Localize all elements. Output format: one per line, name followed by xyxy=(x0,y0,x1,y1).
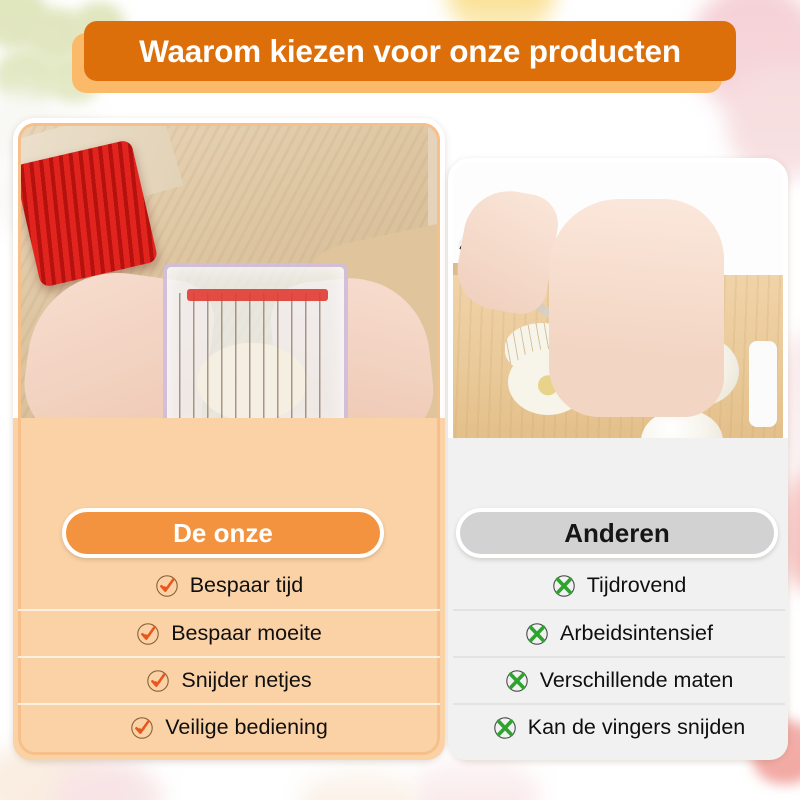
check-circle-icon xyxy=(146,669,170,693)
ours-column-label: De onze xyxy=(173,518,273,549)
x-circle-icon xyxy=(493,716,517,740)
ours-product-photo xyxy=(18,123,440,425)
check-circle-icon xyxy=(155,574,179,598)
check-circle-icon xyxy=(130,716,154,740)
promo-comparison-graphic: Waarom kiezen voor onze producten xyxy=(0,0,800,800)
feature-label: Veilige bediening xyxy=(165,715,328,740)
feature-label: Tijdrovend xyxy=(587,573,687,598)
list-item: Arbeidsintensief xyxy=(453,609,785,656)
header-banner: Waarom kiezen voor onze producten xyxy=(84,21,736,81)
slicer-red-rim xyxy=(187,289,328,301)
others-column-label: Anderen xyxy=(564,518,669,549)
feature-label: Arbeidsintensief xyxy=(560,621,713,646)
list-item: Bespaar tijd xyxy=(18,562,440,609)
list-item: Kan de vingers snijden xyxy=(453,703,785,750)
feature-label: Bespaar moeite xyxy=(171,621,322,646)
right-hand xyxy=(549,199,724,417)
list-item: Veilige bediening xyxy=(18,703,440,750)
slicer-wires xyxy=(179,293,332,421)
check-circle-icon xyxy=(136,622,160,646)
others-column-header: Anderen xyxy=(456,508,778,558)
white-object xyxy=(749,341,777,427)
ours-column-header: De onze xyxy=(62,508,384,558)
list-item: Verschillende maten xyxy=(453,656,785,703)
egg-slicer-box xyxy=(163,263,348,425)
others-product-photo xyxy=(453,163,783,443)
list-item: Bespaar moeite xyxy=(18,609,440,656)
feature-label: Verschillende maten xyxy=(540,668,734,693)
feature-label: Snijder netjes xyxy=(181,668,311,693)
ours-feature-list: Bespaar tijd Bespaar moeite Snijder ne xyxy=(18,562,440,750)
feature-label: Bespaar tijd xyxy=(190,573,304,598)
page-title: Waarom kiezen voor onze producten xyxy=(139,33,681,70)
feature-label: Kan de vingers snijden xyxy=(528,715,746,740)
x-circle-icon xyxy=(525,622,549,646)
x-circle-icon xyxy=(552,574,576,598)
others-feature-list: Tijdrovend Arbeidsintensief Verschillend… xyxy=(453,562,785,750)
list-item: Tijdrovend xyxy=(453,562,785,609)
list-item: Snijder netjes xyxy=(18,656,440,703)
x-circle-icon xyxy=(505,669,529,693)
